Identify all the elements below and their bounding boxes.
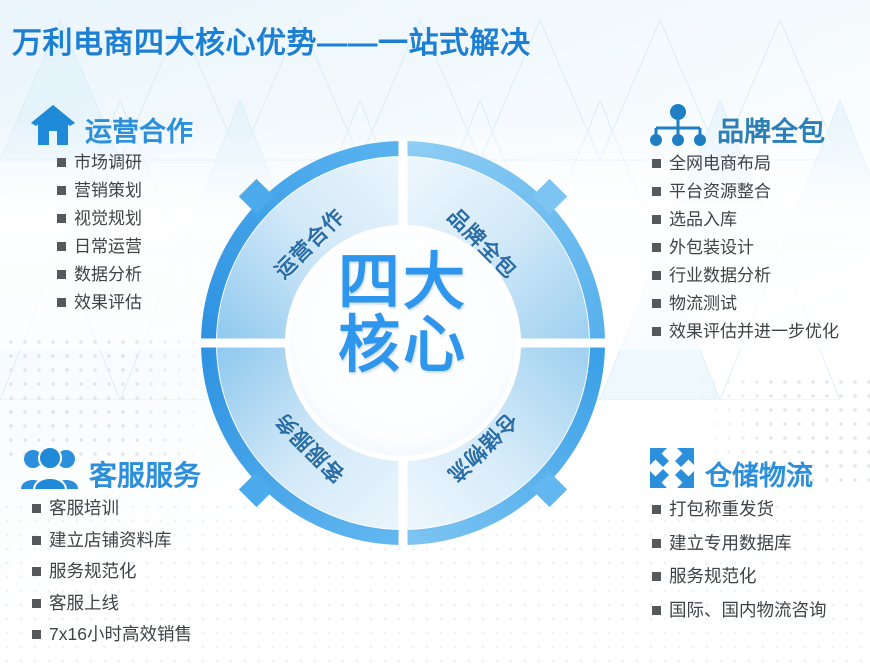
block-service-title: 客服服务 [89,462,201,490]
bullet-square-icon [57,186,66,195]
bullet-square-icon [57,298,66,307]
list-item-label: 行业数据分析 [669,267,771,284]
bullet-square-icon [652,243,661,252]
list-item: 建立专用数据库 [652,535,827,553]
list-item-label: 建立店铺资料库 [49,532,172,550]
bullet-square-icon [32,599,41,608]
bullet-square-icon [57,270,66,279]
block-service-header: 客服服务 [20,446,201,490]
list-item: 服务规范化 [32,563,201,581]
core-wheel-diagram: 运营合作 品牌全包 客服服务 仓储物流 四大 核心 [193,133,613,553]
block-operation-header: 运营合作 [30,104,193,146]
expand-arrows-icon [648,446,696,490]
list-item-label: 客服上线 [49,595,119,613]
block-operation-title: 运营合作 [85,119,193,146]
block-logistics-list: 打包称重发货 建立专用数据库 服务规范化 国际、国内物流咨询 [652,501,827,619]
list-item-label: 日常运营 [74,238,142,255]
bullet-square-icon [652,299,661,308]
list-item-label: 选品入库 [669,211,737,228]
block-brand-list: 全网电商布局 平台资源整合 选品入库 外包装设计 行业数据分析 物流测试 效果评… [652,155,839,340]
list-item: 物流测试 [652,295,839,312]
list-item: 效果评估并进一步优化 [652,323,839,340]
list-item: 全网电商布局 [652,155,839,172]
list-item-label: 国际、国内物流咨询 [669,602,827,620]
bullet-square-icon [652,159,661,168]
bullet-square-icon [57,158,66,167]
wheel-center-text: 四大 核心 [193,251,613,377]
block-logistics-header: 仓储物流 [648,446,827,490]
list-item-label: 建立专用数据库 [669,535,792,553]
center-text-line2: 核心 [193,314,613,377]
block-logistics-title: 仓储物流 [705,463,813,490]
bullet-square-icon [32,630,41,639]
bullet-square-icon [32,536,41,545]
list-item-label: 外包装设计 [669,239,754,256]
home-icon [30,104,76,146]
list-item: 建立店铺资料库 [32,532,201,550]
block-brand-title: 品牌全包 [717,119,825,146]
list-item: 市场调研 [57,154,193,171]
list-item-label: 视觉规划 [74,210,142,227]
users-icon [20,446,80,490]
block-operation-list: 市场调研 营销策划 视觉规划 日常运营 数据分析 效果评估 [57,154,193,311]
list-item: 服务规范化 [652,568,827,586]
bullet-square-icon [57,242,66,251]
page-title: 万利电商四大核心优势——一站式解决 [12,18,531,62]
bullet-square-icon [652,187,661,196]
list-item: 数据分析 [57,266,193,283]
list-item: 营销策划 [57,182,193,199]
list-item-label: 全网电商布局 [669,155,771,172]
block-service-list: 客服培训 建立店铺资料库 服务规范化 客服上线 7x16小时高效销售 [32,500,201,644]
list-item: 视觉规划 [57,210,193,227]
background-dots-left [0,332,215,464]
list-item-label: 服务规范化 [49,563,137,581]
bullet-square-icon [652,505,661,514]
list-item: 客服培训 [32,500,201,518]
block-brand: 品牌全包 全网电商布局 平台资源整合 选品入库 外包装设计 行业数据分析 物流测… [648,104,839,351]
block-service: 客服服务 客服培训 建立店铺资料库 服务规范化 客服上线 7x16小时高效销售 [20,446,201,658]
list-item-label: 服务规范化 [669,568,757,586]
list-item: 选品入库 [652,211,839,228]
list-item: 7x16小时高效销售 [32,626,201,644]
list-item: 国际、国内物流咨询 [652,602,827,620]
bullet-square-icon [652,606,661,615]
block-operation: 运营合作 市场调研 营销策划 视觉规划 日常运营 数据分析 效果评估 [30,104,193,322]
list-item: 效果评估 [57,294,193,311]
list-item-label: 效果评估并进一步优化 [669,323,839,340]
bullet-square-icon [652,572,661,581]
list-item: 外包装设计 [652,239,839,256]
list-item: 行业数据分析 [652,267,839,284]
bullet-square-icon [652,327,661,336]
list-item: 打包称重发货 [652,501,827,519]
list-item-label: 平台资源整合 [669,183,771,200]
bullet-square-icon [32,504,41,513]
org-chart-icon [648,104,708,146]
center-text-line1: 四大 [338,248,468,317]
list-item-label: 数据分析 [74,266,142,283]
block-logistics: 仓储物流 打包称重发货 建立专用数据库 服务规范化 国际、国内物流咨询 [648,446,827,635]
bullet-square-icon [652,539,661,548]
list-item: 平台资源整合 [652,183,839,200]
list-item-label: 客服培训 [49,500,119,518]
list-item-label: 打包称重发货 [669,501,774,519]
bullet-square-icon [32,567,41,576]
block-brand-header: 品牌全包 [648,104,839,146]
bullet-square-icon [652,271,661,280]
infographic-canvas: 万利电商四大核心优势——一站式解决 [0,0,870,672]
list-item-label: 效果评估 [74,294,142,311]
bullet-square-icon [652,215,661,224]
list-item: 日常运营 [57,238,193,255]
bullet-square-icon [57,214,66,223]
list-item-label: 物流测试 [669,295,737,312]
list-item-label: 市场调研 [74,154,142,171]
list-item-label: 7x16小时高效销售 [49,626,192,644]
list-item: 客服上线 [32,595,201,613]
list-item-label: 营销策划 [74,182,142,199]
